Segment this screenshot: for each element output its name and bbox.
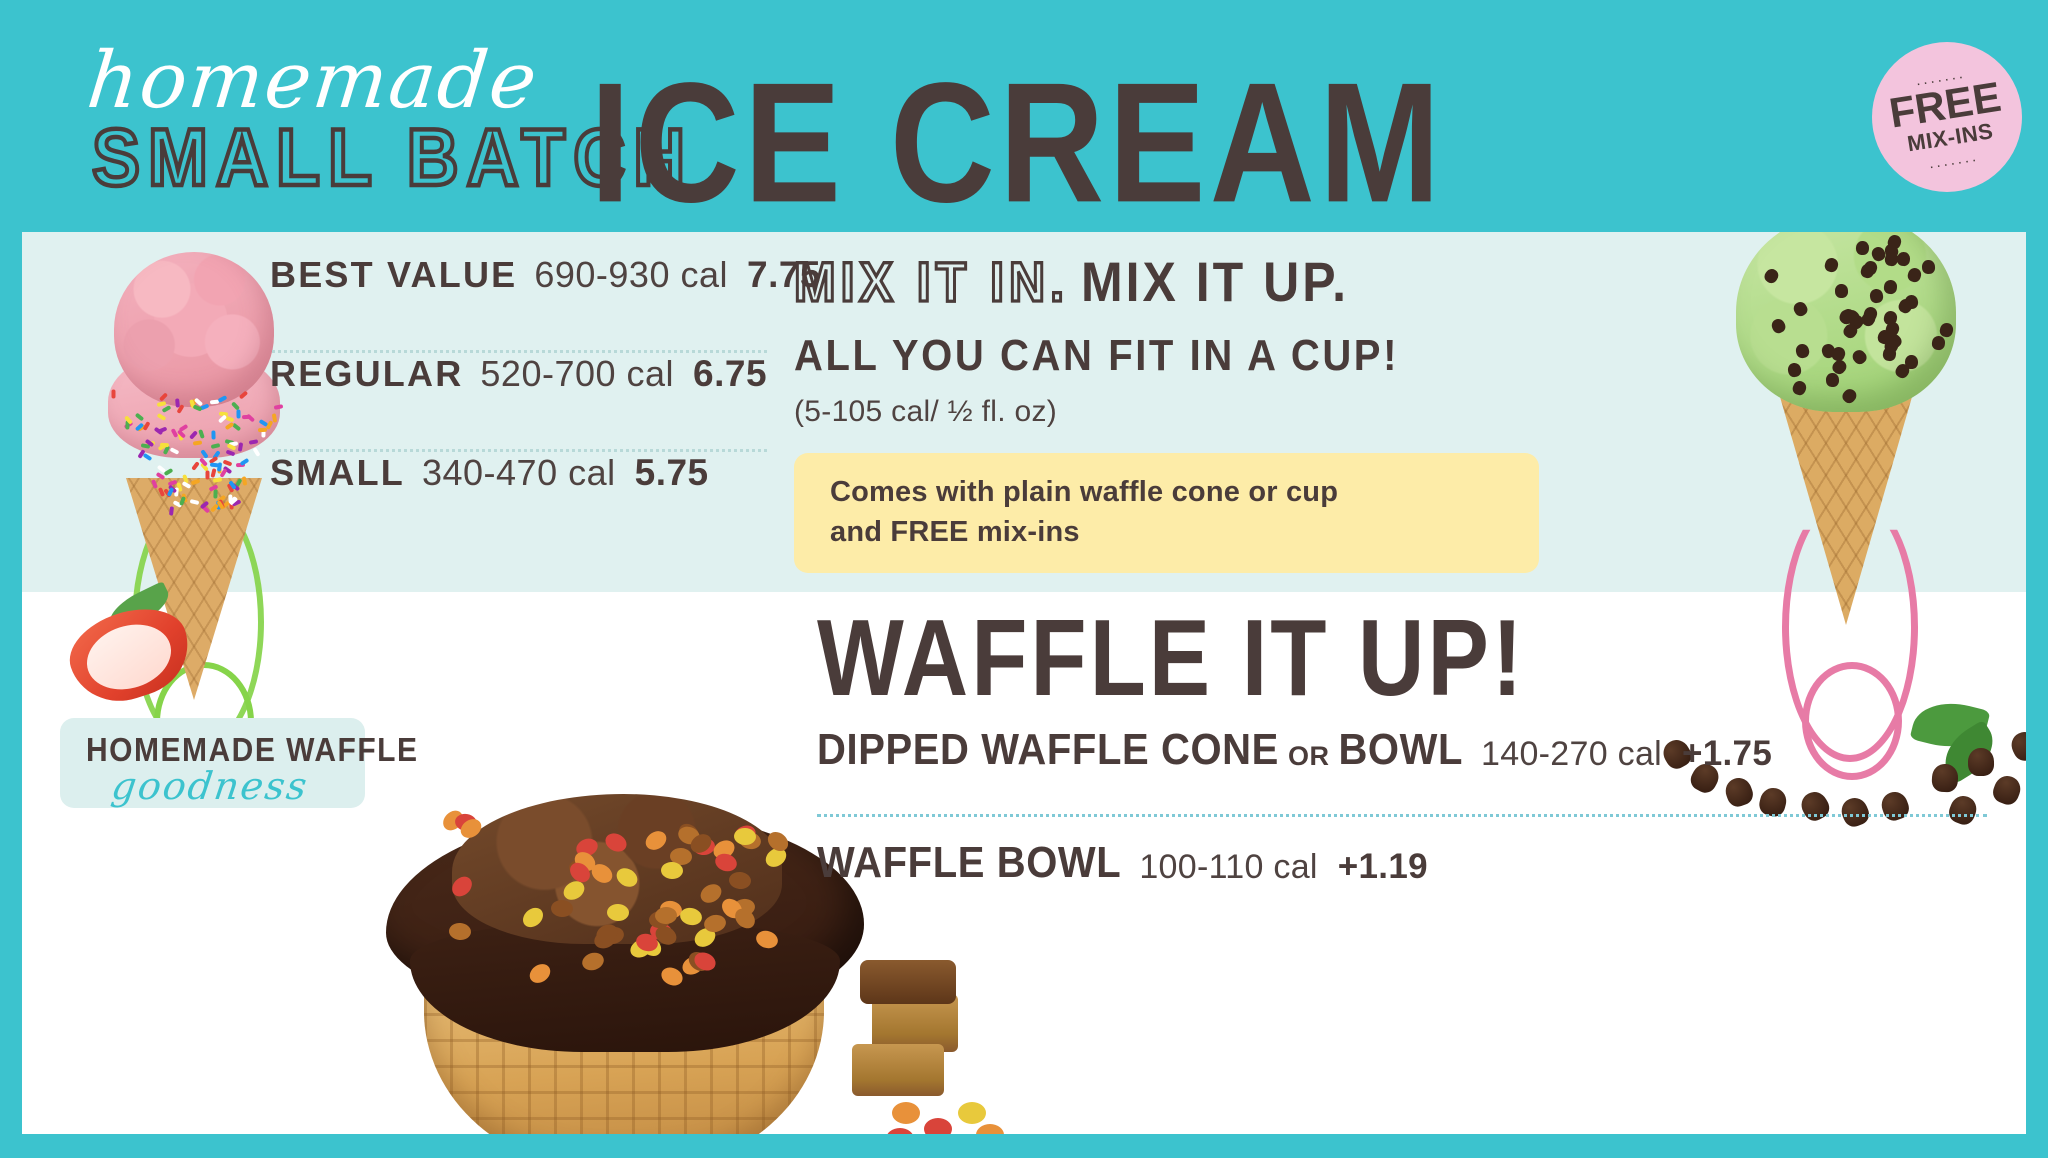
candy-piece xyxy=(654,907,677,925)
mix-ins-subtitle: ALL YOU CAN FIT IN A CUP! xyxy=(794,332,1594,382)
free-mixins-badge: ....... FREE MIX-INS ....... xyxy=(1872,42,2022,192)
candy-piece xyxy=(652,923,680,949)
candy-piece xyxy=(634,931,660,954)
mix-it-in-label: MIX IT IN. xyxy=(794,254,1069,310)
candy-piece-loose xyxy=(976,1124,1004,1134)
candy-piece xyxy=(710,836,737,862)
candy-piece xyxy=(676,824,702,847)
candy-piece xyxy=(593,921,620,946)
chocolate-chip-piece xyxy=(2007,728,2026,765)
menu-board: homemade SMALL BATCH ICE CREAM ....... F… xyxy=(0,0,2048,1158)
candy-piece-loose xyxy=(886,1128,914,1134)
candy-piece-loose xyxy=(892,1102,920,1124)
waffle-calorie-label: 100-110 cal xyxy=(1139,848,1317,887)
peanut-butter-cup-top xyxy=(860,960,956,1004)
candy-piece xyxy=(642,827,670,853)
candy-piece xyxy=(648,910,672,929)
waffle-row-waffle-bowl[interactable]: WAFFLE BOWL 100-110 cal +1.19 xyxy=(817,843,1997,907)
candy-piece xyxy=(733,827,756,845)
waffle-bowl-shell xyxy=(424,942,824,1134)
candy-piece xyxy=(692,837,715,855)
waffle-item-joiner: OR xyxy=(1288,741,1330,772)
candy-piece xyxy=(613,865,641,891)
mix-ins-callout-box: Comes with plain waffle cone or cup and … xyxy=(794,453,1539,573)
candy-piece xyxy=(637,933,665,960)
candy-piece xyxy=(448,873,476,901)
page-title: ICE CREAM xyxy=(590,44,1444,242)
size-label: REGULAR xyxy=(270,353,463,395)
peanut-butter-cup-second xyxy=(852,1044,944,1096)
waffle-item-label: DIPPED WAFFLE CONE xyxy=(817,726,1279,775)
chocolate-dip-drip xyxy=(410,922,840,1052)
candy-piece xyxy=(439,807,467,835)
candy-piece xyxy=(697,880,725,906)
candy-piece xyxy=(567,858,592,879)
mix-ins-calories: (5-105 cal/ ½ fl. oz) xyxy=(794,395,1594,429)
candy-piece xyxy=(519,904,547,931)
candy-piece xyxy=(754,928,780,950)
candy-piece xyxy=(713,851,739,874)
candy-piece xyxy=(526,961,554,988)
calorie-label: 340-470 cal xyxy=(422,452,616,494)
waffle-it-up-heading: WAFFLE IT UP! xyxy=(817,604,1997,713)
candy-piece xyxy=(731,822,758,846)
waffle-row-dipped-cone[interactable]: DIPPED WAFFLE CONE OR BOWL 140-270 cal +… xyxy=(817,730,1997,794)
waffle-bowl-texture xyxy=(424,942,824,1134)
waffle-calorie-label: 140-270 cal xyxy=(1481,735,1662,774)
candy-piece xyxy=(580,950,606,973)
mix-ins-heading: MIX IT IN.MIX IT UP. xyxy=(794,260,1594,310)
calorie-label: 520-700 cal xyxy=(480,353,674,395)
size-label: BEST VALUE xyxy=(270,254,517,296)
candy-piece xyxy=(738,829,763,851)
candy-piece xyxy=(678,906,703,928)
mix-it-up-label: MIX IT UP. xyxy=(1081,254,1349,310)
mix-ins-section: MIX IT IN.MIX IT UP. ALL YOU CAN FIT IN … xyxy=(794,260,1594,573)
waffle-price-label: +1.75 xyxy=(1682,734,1772,774)
candy-piece xyxy=(691,949,718,974)
candy-piece xyxy=(659,899,684,920)
candy-piece xyxy=(675,820,703,847)
candy-piece xyxy=(685,948,713,975)
price-label: 5.75 xyxy=(635,452,709,494)
price-label: 6.75 xyxy=(693,353,767,395)
goodness-script-label: goodness xyxy=(109,764,312,808)
chocolate-dip-shell xyxy=(386,812,864,1020)
candy-piece xyxy=(649,921,674,942)
candy-piece xyxy=(764,828,792,855)
candy-piece xyxy=(679,953,706,978)
candy-piece xyxy=(691,924,719,950)
size-label: SMALL xyxy=(270,452,405,494)
waffle-price-label: +1.19 xyxy=(1338,847,1428,887)
candy-piece xyxy=(703,913,728,934)
waffle-item-label-2: BOWL xyxy=(1338,726,1463,775)
candy-piece xyxy=(457,816,485,842)
candy-piece xyxy=(602,830,629,855)
calorie-label: 690-930 cal xyxy=(534,254,728,296)
candy-piece xyxy=(571,849,599,876)
candy-piece xyxy=(607,904,629,922)
candy-piece xyxy=(560,878,588,904)
candy-piece xyxy=(732,897,756,917)
candy-piece xyxy=(718,894,746,921)
candy-piece xyxy=(551,900,574,918)
candy-piece xyxy=(762,844,790,871)
strawberry-fruit-icon xyxy=(60,596,201,715)
candy-piece xyxy=(448,922,471,941)
header-banner: homemade SMALL BATCH ICE CREAM ....... F… xyxy=(0,0,2048,232)
peanut-butter-cup-front xyxy=(872,994,958,1052)
waffle-upgrades-section: WAFFLE IT UP! DIPPED WAFFLE CONE OR BOWL… xyxy=(817,604,1997,907)
divider xyxy=(817,814,1987,817)
candy-piece xyxy=(659,964,686,989)
callout-line-1: Comes with plain waffle cone or cup xyxy=(830,472,1513,512)
candy-piece-loose xyxy=(924,1118,952,1134)
homemade-waffle-goodness-badge: HOMEMADE WAFFLE goodness xyxy=(60,718,365,808)
candy-piece-loose xyxy=(958,1102,986,1124)
waffle-item-label: WAFFLE BOWL xyxy=(817,839,1121,888)
menu-panel: BEST VALUE 690-930 cal 7.75 REGULAR 520-… xyxy=(22,232,2026,1134)
candy-piece xyxy=(731,904,759,932)
candy-piece xyxy=(454,812,479,833)
chocolate-ice-cream-scoop xyxy=(452,794,782,944)
candy-piece xyxy=(688,831,716,857)
candy-piece xyxy=(566,859,594,886)
callout-line-2: and FREE mix-ins xyxy=(830,512,1513,552)
candy-piece xyxy=(628,936,655,961)
candy-piece xyxy=(574,836,601,860)
strawberry-cut-face xyxy=(79,614,180,700)
candy-piece xyxy=(592,928,619,952)
candy-piece xyxy=(670,848,693,866)
candy-piece xyxy=(661,862,684,880)
candy-piece xyxy=(588,861,616,887)
candy-piece xyxy=(728,871,752,890)
candy-piece xyxy=(600,925,625,946)
